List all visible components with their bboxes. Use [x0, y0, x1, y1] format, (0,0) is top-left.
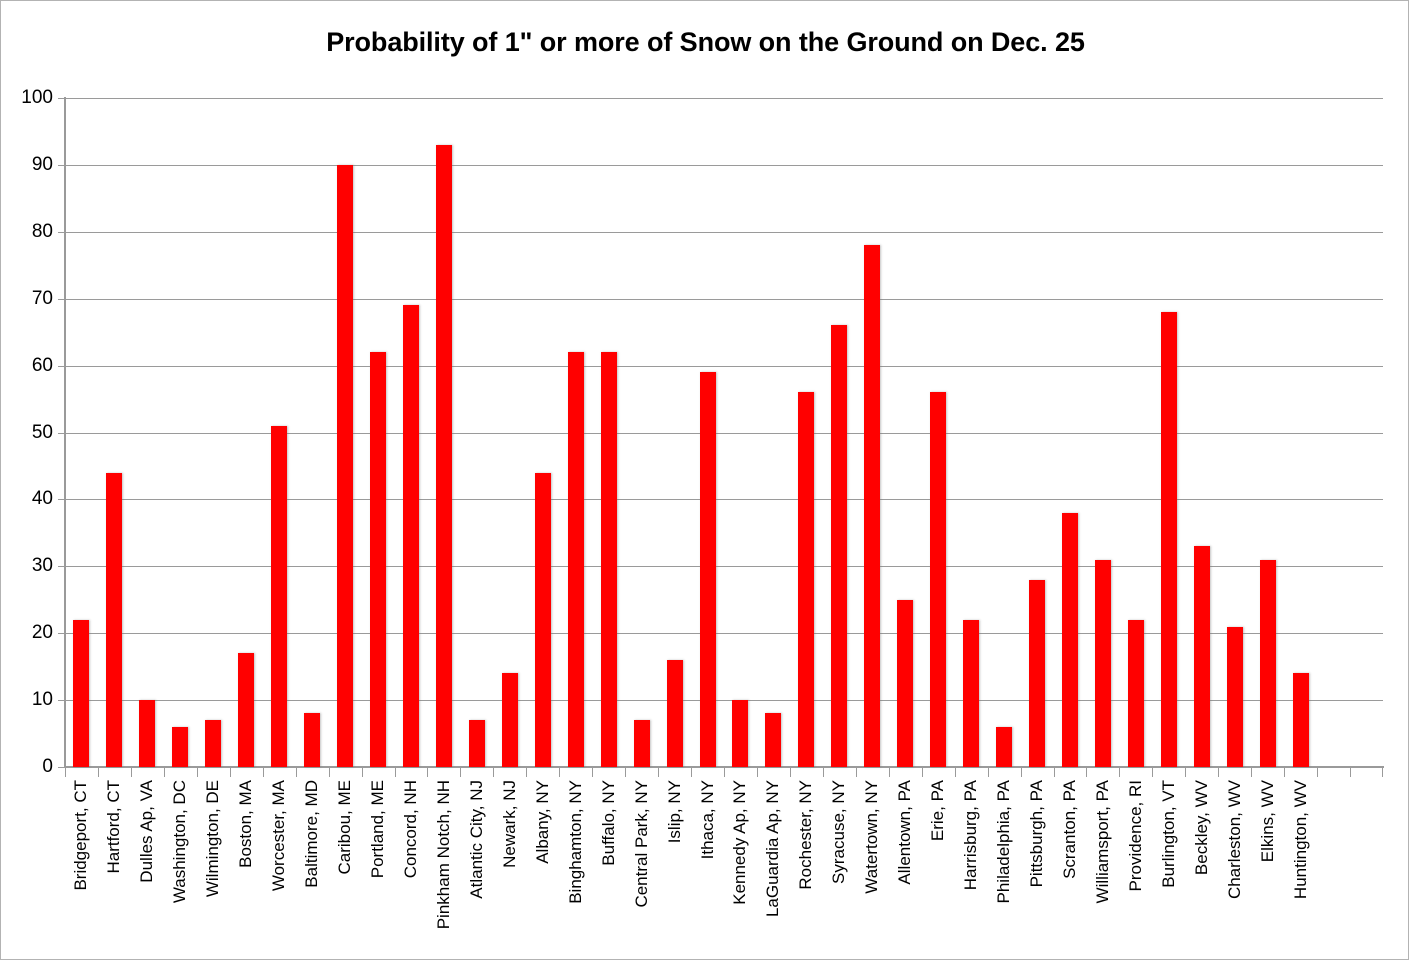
- bar-slot: [493, 98, 526, 767]
- x-tick-label: LaGuardia Ap, NY: [764, 780, 781, 917]
- bar-slot: [460, 98, 493, 767]
- bar-series: [65, 98, 1383, 767]
- x-tick-label: Buffalo, NY: [600, 780, 617, 866]
- x-tick-label: Worcester, MA: [270, 780, 287, 891]
- y-tick-label: 100: [21, 87, 53, 109]
- x-tick-mark: [955, 768, 956, 777]
- bar-slot: [329, 98, 362, 767]
- x-tick-label: Hartford, CT: [105, 780, 122, 874]
- bar-slot: [592, 98, 625, 767]
- x-tick-label: Portland, ME: [369, 780, 386, 878]
- x-tick-mark: [98, 768, 99, 777]
- x-tick-label: Elkins, WV: [1259, 780, 1276, 862]
- bar-slot: [1119, 98, 1152, 767]
- bar-slot: [955, 98, 988, 767]
- x-tick-label: Pinkham Notch, NH: [435, 780, 452, 929]
- bar[interactable]: [700, 372, 716, 767]
- y-axis-labels: 0102030405060708090100: [1, 98, 53, 767]
- bar-slot: [988, 98, 1021, 767]
- bar-slot: [1086, 98, 1119, 767]
- bar-slot: [395, 98, 428, 767]
- bar[interactable]: [568, 352, 584, 767]
- x-tick-mark: [1218, 768, 1219, 777]
- bar-slot: [98, 98, 131, 767]
- y-tick-label: 30: [32, 555, 53, 577]
- x-tick-mark: [263, 768, 264, 777]
- x-tick-label: Binghamton, NY: [567, 780, 584, 904]
- bar[interactable]: [897, 600, 913, 767]
- bar[interactable]: [238, 653, 254, 767]
- x-tick-mark: [1185, 768, 1186, 777]
- bar[interactable]: [436, 145, 452, 767]
- bar-slot: [1152, 98, 1185, 767]
- bar-slot: [526, 98, 559, 767]
- bar[interactable]: [1260, 560, 1276, 767]
- x-axis-labels: Bridgeport, CTHartford, CTDulles Ap, VAW…: [65, 780, 1383, 955]
- x-tick-label: Beckley, WV: [1193, 780, 1210, 875]
- x-tick-mark: [1152, 768, 1153, 777]
- bar-slot: [889, 98, 922, 767]
- bar-slot: [922, 98, 955, 767]
- x-tick-label: Atlantic City, NJ: [468, 780, 485, 899]
- y-tick-label: 90: [32, 154, 53, 176]
- bar[interactable]: [205, 720, 221, 767]
- y-tick-label: 10: [32, 689, 53, 711]
- bar-slot: [296, 98, 329, 767]
- x-tick-label: Philadelphia, PA: [995, 780, 1012, 904]
- x-tick-mark: [362, 768, 363, 777]
- x-tick-label: Pittsburgh, PA: [1028, 780, 1045, 887]
- x-tick-mark: [889, 768, 890, 777]
- x-tick-label: Huntington, WV: [1292, 780, 1309, 899]
- x-tick-label: Syracuse, NY: [830, 780, 847, 884]
- bar-slot: [65, 98, 98, 767]
- bar[interactable]: [1029, 580, 1045, 767]
- x-tick-mark: [1350, 768, 1351, 777]
- bar-slot: [131, 98, 164, 767]
- x-tick-mark: [625, 768, 626, 777]
- y-tick-label: 40: [32, 488, 53, 510]
- x-tick-mark: [131, 768, 132, 777]
- bar[interactable]: [601, 352, 617, 767]
- bar[interactable]: [732, 700, 748, 767]
- bar-slot: [1218, 98, 1251, 767]
- x-tick-label: Scranton, PA: [1061, 780, 1078, 879]
- bar-slot: [1284, 98, 1317, 767]
- x-tick-label: Williamsport, PA: [1094, 780, 1111, 903]
- bar-slot: [724, 98, 757, 767]
- x-tick-label: Charleston, WV: [1226, 780, 1243, 899]
- x-tick-mark: [526, 768, 527, 777]
- bar-slot: [658, 98, 691, 767]
- bar[interactable]: [1194, 546, 1210, 767]
- bar[interactable]: [1128, 620, 1144, 767]
- x-tick-label: Newark, NJ: [501, 780, 518, 868]
- x-tick-mark: [296, 768, 297, 777]
- x-tick-mark: [1021, 768, 1022, 777]
- x-tick-mark: [559, 768, 560, 777]
- x-tick-label: Caribou, ME: [336, 780, 353, 874]
- x-tick-label: Washington, DC: [171, 780, 188, 903]
- bar-slot: [427, 98, 460, 767]
- x-tick-label: Providence, RI: [1127, 780, 1144, 892]
- x-tick-label: Burlington, VT: [1160, 780, 1177, 888]
- bar[interactable]: [73, 620, 89, 767]
- chart-title: Probability of 1" or more of Snow on the…: [1, 27, 1409, 58]
- bar[interactable]: [930, 392, 946, 767]
- bar-slot: [197, 98, 230, 767]
- x-tick-mark: [724, 768, 725, 777]
- bar[interactable]: [337, 165, 353, 767]
- bar[interactable]: [139, 700, 155, 767]
- x-tick-label: Erie, PA: [929, 780, 946, 841]
- x-tick-mark: [790, 768, 791, 777]
- y-tick-label: 70: [32, 288, 53, 310]
- bar-slot: [1054, 98, 1087, 767]
- x-tick-label: Concord, NH: [402, 780, 419, 878]
- bar-slot: [625, 98, 658, 767]
- bar[interactable]: [1095, 560, 1111, 767]
- x-tick-mark: [1054, 768, 1055, 777]
- x-tick-label: Wilmington, DE: [204, 780, 221, 897]
- x-tick-label: Kennedy Ap, NY: [731, 780, 748, 905]
- bar[interactable]: [963, 620, 979, 767]
- bar[interactable]: [996, 727, 1012, 767]
- bar[interactable]: [1161, 312, 1177, 767]
- x-tick-mark: [922, 768, 923, 777]
- x-tick-mark: [164, 768, 165, 777]
- bar-slot: [691, 98, 724, 767]
- x-tick-mark: [1251, 768, 1252, 777]
- x-tick-label: Ithaca, NY: [699, 780, 716, 859]
- bar-slot: [757, 98, 790, 767]
- x-tick-mark: [757, 768, 758, 777]
- y-tick-label: 0: [42, 756, 53, 778]
- bar[interactable]: [172, 727, 188, 767]
- bar-slot: [1021, 98, 1054, 767]
- x-tick-label: Allentown, PA: [896, 780, 913, 885]
- x-tick-mark: [230, 768, 231, 777]
- x-tick-mark: [856, 768, 857, 777]
- x-tick-mark: [592, 768, 593, 777]
- chart-container: Probability of 1" or more of Snow on the…: [0, 0, 1409, 960]
- x-tick-label: Harrisburg, PA: [962, 780, 979, 890]
- x-tick-mark: [658, 768, 659, 777]
- y-tick-label: 20: [32, 622, 53, 644]
- bar[interactable]: [502, 673, 518, 767]
- bar[interactable]: [667, 660, 683, 767]
- x-tick-label: Rochester, NY: [797, 780, 814, 890]
- bar[interactable]: [403, 305, 419, 767]
- bar-slot: [263, 98, 296, 767]
- bar[interactable]: [1293, 673, 1309, 767]
- bar[interactable]: [798, 392, 814, 767]
- x-tick-mark: [691, 768, 692, 777]
- x-tick-mark: [1086, 768, 1087, 777]
- bar-slot: [823, 98, 856, 767]
- y-tick-label: 60: [32, 355, 53, 377]
- x-tick-mark: [460, 768, 461, 777]
- bar[interactable]: [535, 473, 551, 767]
- bar[interactable]: [765, 713, 781, 767]
- x-tick-mark: [1284, 768, 1285, 777]
- x-tick-label: Baltimore, MD: [303, 780, 320, 888]
- bar[interactable]: [106, 473, 122, 767]
- bar[interactable]: [370, 352, 386, 767]
- bar-slot: [362, 98, 395, 767]
- y-tick-label: 50: [32, 422, 53, 444]
- y-tick-label: 80: [32, 221, 53, 243]
- x-axis-ticks: [65, 768, 1383, 778]
- bar-slot: [230, 98, 263, 767]
- bar[interactable]: [1227, 627, 1243, 767]
- x-tick-label: Bridgeport, CT: [72, 780, 89, 891]
- bar[interactable]: [634, 720, 650, 767]
- x-tick-mark: [329, 768, 330, 777]
- x-tick-label: Boston, MA: [237, 780, 254, 868]
- x-tick-mark: [1317, 768, 1318, 777]
- bar[interactable]: [831, 325, 847, 767]
- bar[interactable]: [304, 713, 320, 767]
- x-tick-mark: [427, 768, 428, 777]
- x-tick-label: Albany, NY: [534, 780, 551, 864]
- x-tick-mark: [65, 768, 66, 777]
- bar-slot: [1185, 98, 1218, 767]
- x-tick-mark: [1382, 768, 1383, 777]
- bar[interactable]: [271, 426, 287, 767]
- x-tick-mark: [493, 768, 494, 777]
- x-tick-label: Watertown, NY: [863, 780, 880, 894]
- x-tick-mark: [395, 768, 396, 777]
- bar[interactable]: [1062, 513, 1078, 767]
- bar-slot: [856, 98, 889, 767]
- bar-slot: [1251, 98, 1284, 767]
- bar-slot: [164, 98, 197, 767]
- x-tick-mark: [823, 768, 824, 777]
- x-tick-mark: [1119, 768, 1120, 777]
- bar-slot: [559, 98, 592, 767]
- x-tick-mark: [197, 768, 198, 777]
- bar[interactable]: [864, 245, 880, 767]
- x-tick-label: Islip, NY: [666, 780, 683, 843]
- x-tick-label: Dulles Ap, VA: [138, 780, 155, 883]
- bar-slot: [790, 98, 823, 767]
- bar[interactable]: [469, 720, 485, 767]
- x-tick-label: Central Park, NY: [633, 780, 650, 908]
- x-tick-mark: [988, 768, 989, 777]
